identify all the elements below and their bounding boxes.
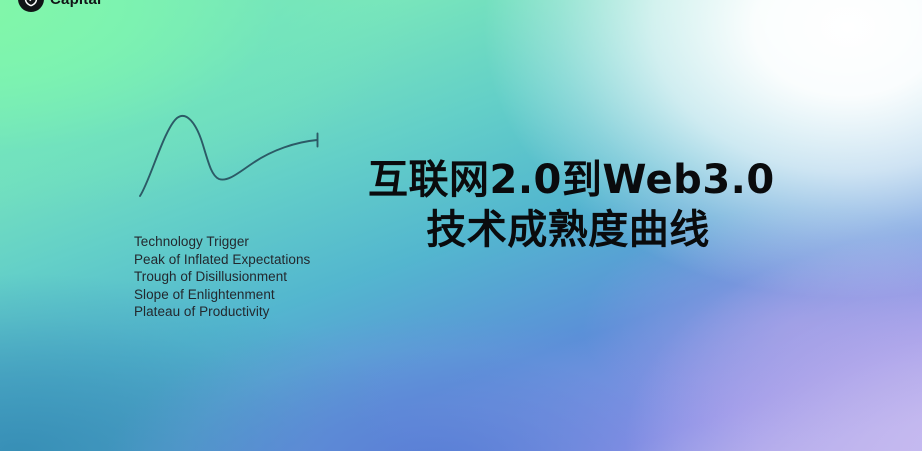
hype-cycle-stage-list: Technology Trigger Peak of Inflated Expe…	[134, 233, 310, 321]
stage-label-technology-trigger: Technology Trigger	[134, 233, 310, 251]
brand-logo: Capital	[18, 0, 101, 12]
slide-title-line-1: 互联网2.0到Web3.0	[368, 155, 768, 205]
slide-title-line-2: 技术成熟度曲线	[368, 205, 768, 255]
capital-shield-circle-icon	[18, 0, 44, 12]
stage-label-trough-of-disillusionment: Trough of Disillusionment	[134, 268, 310, 286]
title-slide: Capital Technology Trigger Peak of Infla…	[0, 0, 922, 451]
slide-title: 互联网2.0到Web3.0 技术成熟度曲线	[368, 155, 768, 255]
stage-label-slope-of-enlightenment: Slope of Enlightenment	[134, 286, 310, 304]
stage-label-peak-of-inflated-expectations: Peak of Inflated Expectations	[134, 251, 310, 269]
logo-wordmark: Capital	[50, 0, 101, 7]
hype-cycle-curve	[120, 95, 340, 215]
stage-label-plateau-of-productivity: Plateau of Productivity	[134, 303, 310, 321]
